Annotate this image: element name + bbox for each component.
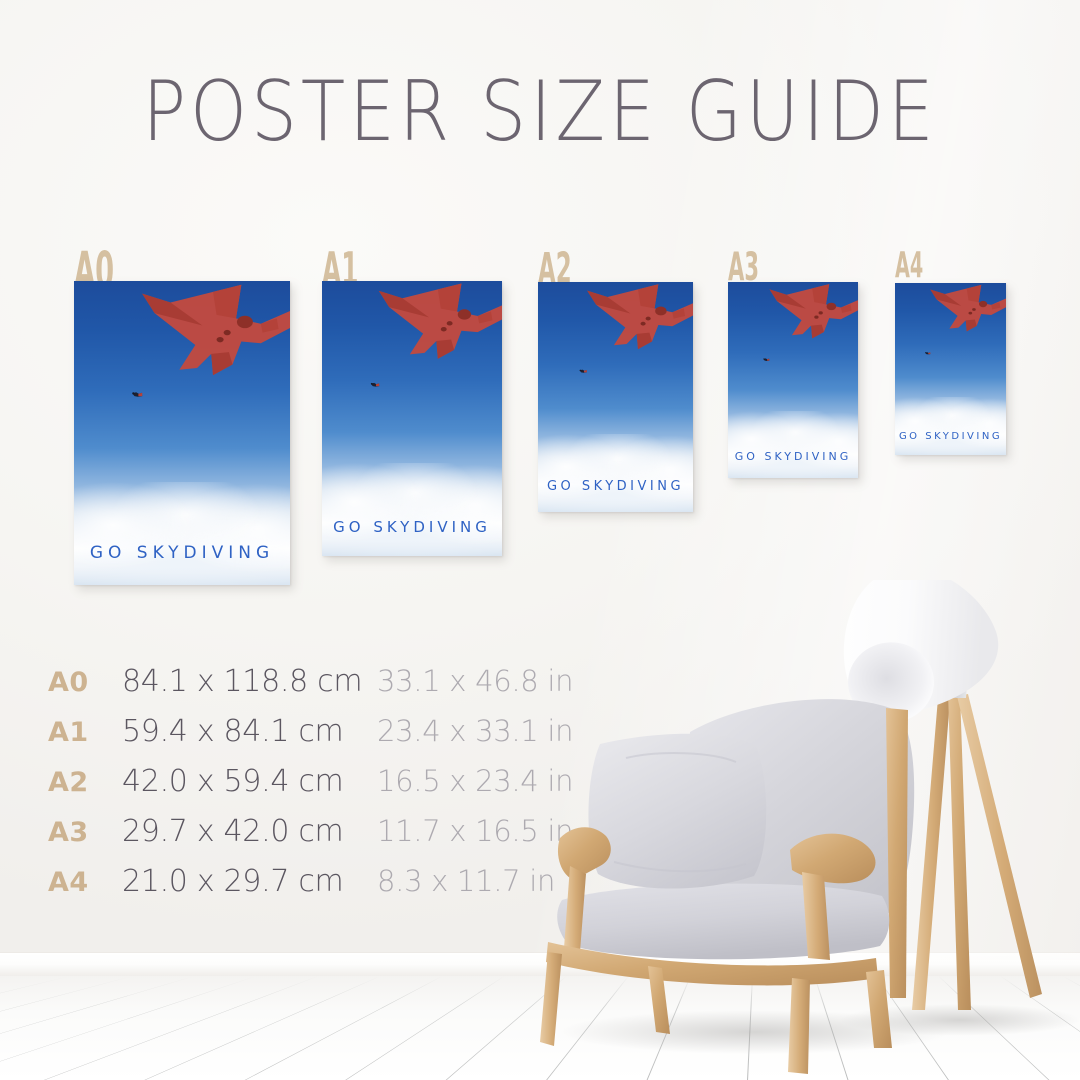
chair-leg-front-right <box>788 978 810 1074</box>
airplane-icon <box>367 282 502 383</box>
poster-caption: GO SKYDIVING <box>728 450 858 463</box>
airplane-icon <box>761 283 859 357</box>
furniture-group <box>540 580 1080 1080</box>
row-dimensions-cm: 21.0 x 29.7 cm <box>122 864 377 899</box>
poster-clouds <box>74 482 290 585</box>
poster-a3[interactable]: GO SKYDIVING <box>728 282 858 478</box>
poster-caption: GO SKYDIVING <box>538 479 693 494</box>
floor-plank <box>0 976 133 1080</box>
row-size-code: A3 <box>48 817 122 848</box>
chair-leg-front-left <box>540 952 562 1046</box>
airplane-icon <box>923 284 1006 348</box>
poster-a4[interactable]: GO SKYDIVING <box>895 283 1006 455</box>
row-dimensions-cm: 29.7 x 42.0 cm <box>122 814 377 849</box>
row-size-code: A1 <box>48 717 122 748</box>
skydiver-icon <box>369 376 380 394</box>
table-row: A159.4 x 84.1 cm23.4 x 33.1 in <box>48 714 573 764</box>
poster-clouds <box>538 434 693 512</box>
table-row: A242.0 x 59.4 cm16.5 x 23.4 in <box>48 764 573 814</box>
chair-seat <box>557 884 889 960</box>
poster-caption: GO SKYDIVING <box>895 431 1006 442</box>
skydiver-icon <box>924 342 931 360</box>
poster-clouds <box>728 411 858 478</box>
skydiver-icon <box>578 361 588 379</box>
poster-caption: GO SKYDIVING <box>322 518 502 536</box>
row-dimensions-cm: 42.0 x 59.4 cm <box>122 764 377 799</box>
skydiver-icon <box>762 350 770 368</box>
row-size-code: A2 <box>48 767 122 798</box>
poster-clouds <box>895 397 1006 455</box>
floor-plank <box>44 976 319 1080</box>
poster-a2[interactable]: GO SKYDIVING <box>538 282 693 512</box>
airplane-icon <box>577 283 693 371</box>
table-row: A329.7 x 42.0 cm11.7 x 16.5 in <box>48 814 573 864</box>
lamp-leg-right <box>957 694 1042 998</box>
airplane-icon <box>128 283 290 403</box>
page-title: POSTER SIZE GUIDE <box>11 64 1069 160</box>
floor-plank <box>0 976 257 1080</box>
chair-back-support <box>886 708 908 998</box>
table-row: A084.1 x 118.8 cm33.1 x 46.8 in <box>48 664 573 714</box>
poster-clouds <box>322 463 502 557</box>
poster-a1[interactable]: GO SKYDIVING <box>322 281 502 556</box>
row-size-code: A0 <box>48 667 122 698</box>
lamp-leg-left <box>912 698 950 1010</box>
row-size-code: A4 <box>48 867 122 898</box>
size-table: A084.1 x 118.8 cm33.1 x 46.8 inA159.4 x … <box>48 664 573 914</box>
poster-a0[interactable]: GO SKYDIVING <box>74 281 290 585</box>
floor-plank <box>345 976 505 1080</box>
table-row: A421.0 x 29.7 cm8.3 x 11.7 in <box>48 864 573 914</box>
poster-caption: GO SKYDIVING <box>74 543 290 563</box>
floor-plank <box>0 976 71 1080</box>
lamp-leg-mid <box>948 692 971 1010</box>
row-dimensions-cm: 59.4 x 84.1 cm <box>122 714 377 749</box>
row-dimensions-inches: 8.3 x 11.7 in <box>377 864 555 898</box>
poster-size-label-a4: A4 <box>895 248 923 284</box>
row-dimensions-cm: 84.1 x 118.8 cm <box>122 664 377 699</box>
skydiver-icon <box>130 386 143 404</box>
